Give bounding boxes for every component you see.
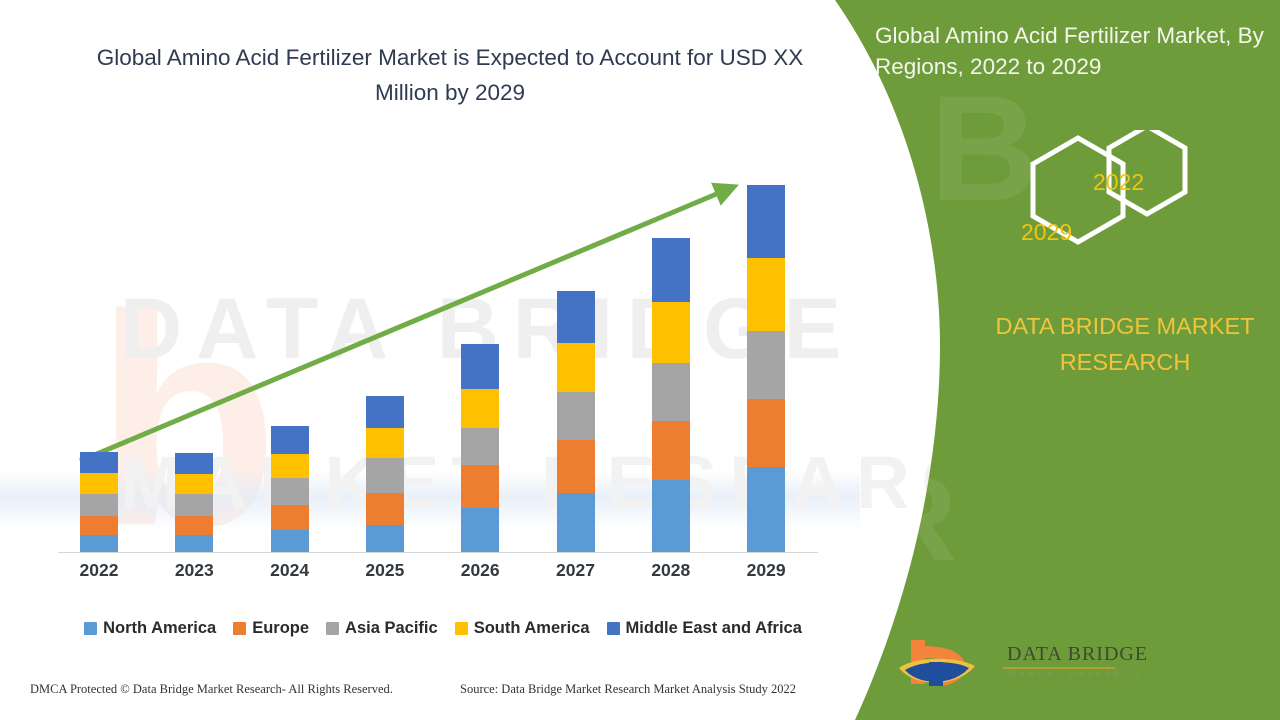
bar-segment-2023-middle-east-and-africa: [175, 453, 213, 474]
legend-item-europe[interactable]: Europe: [233, 619, 309, 638]
hexagon-group: [975, 130, 1205, 290]
bar-2025: [366, 396, 404, 552]
bar-segment-2022-middle-east-and-africa: [80, 452, 118, 473]
bar-segment-2026-south-america: [461, 389, 499, 428]
trend-arrow: [0, 0, 860, 600]
bar-segment-2023-asia-pacific: [175, 494, 213, 516]
panel-title: Global Amino Acid Fertilizer Market, By …: [875, 20, 1270, 82]
legend-swatch-icon: [607, 622, 620, 635]
bar-segment-2025-europe: [366, 493, 404, 525]
bar-2029: [747, 185, 785, 552]
x-axis-label-2024: 2024: [250, 560, 330, 581]
chart-legend: North AmericaEuropeAsia PacificSouth Ame…: [58, 616, 828, 640]
legend-item-north-america[interactable]: North America: [84, 619, 216, 638]
svg-text:R: R: [870, 452, 957, 586]
bar-segment-2024-asia-pacific: [271, 478, 309, 505]
hexagon-2022-label: 2022: [1093, 169, 1144, 196]
brand-line-1: DATA BRIDGE MARKET: [960, 308, 1280, 344]
x-axis-label-2026: 2026: [440, 560, 520, 581]
bar-segment-2024-north-america: [271, 530, 309, 552]
legend-item-middle-east-and-africa[interactable]: Middle East and Africa: [607, 619, 802, 638]
bar-segment-2022-europe: [80, 516, 118, 535]
bar-segment-2022-north-america: [80, 535, 118, 552]
legend-swatch-icon: [326, 622, 339, 635]
bar-segment-2024-europe: [271, 505, 309, 530]
x-axis-label-2028: 2028: [631, 560, 711, 581]
bar-segment-2028-middle-east-and-africa: [652, 238, 690, 302]
hexagon-2029-label: 2029: [1021, 219, 1072, 246]
bar-segment-2029-asia-pacific: [747, 331, 785, 399]
bar-segment-2022-asia-pacific: [80, 494, 118, 516]
bar-segment-2028-europe: [652, 421, 690, 480]
bar-segment-2027-europe: [557, 440, 595, 493]
legend-swatch-icon: [455, 622, 468, 635]
x-axis-label-2029: 2029: [726, 560, 806, 581]
bar-segment-2024-middle-east-and-africa: [271, 426, 309, 454]
bar-2026: [461, 344, 499, 552]
stacked-bar-chart: 20222023202420252026202720282029: [0, 0, 860, 600]
bar-segment-2025-north-america: [366, 525, 404, 552]
x-axis-label-2025: 2025: [345, 560, 425, 581]
x-axis-line: [58, 552, 818, 553]
bar-segment-2026-middle-east-and-africa: [461, 344, 499, 389]
bar-segment-2028-north-america: [652, 480, 690, 552]
bar-segment-2029-middle-east-and-africa: [747, 185, 785, 258]
bar-2028: [652, 238, 690, 552]
bar-2024: [271, 426, 309, 552]
legend-label: Middle East and Africa: [626, 619, 802, 638]
bar-segment-2025-south-america: [366, 428, 404, 458]
bar-segment-2023-north-america: [175, 535, 213, 552]
logo-wordmark: DATA BRIDGE: [1007, 643, 1148, 666]
legend-label: South America: [474, 619, 590, 638]
bar-segment-2029-europe: [747, 399, 785, 467]
legend-item-asia-pacific[interactable]: Asia Pacific: [326, 619, 438, 638]
x-axis-label-2023: 2023: [154, 560, 234, 581]
x-axis-label-2027: 2027: [536, 560, 616, 581]
bar-segment-2027-middle-east-and-africa: [557, 291, 595, 343]
bar-segment-2025-asia-pacific: [366, 458, 404, 493]
bar-segment-2026-europe: [461, 465, 499, 508]
bar-segment-2029-south-america: [747, 258, 785, 331]
bar-segment-2027-asia-pacific: [557, 392, 595, 440]
bar-segment-2022-south-america: [80, 473, 118, 494]
legend-swatch-icon: [84, 622, 97, 635]
brand-line-2: RESEARCH: [960, 344, 1280, 380]
legend-label: Europe: [252, 619, 309, 638]
footer-copyright: DMCA Protected © Data Bridge Market Rese…: [30, 682, 393, 697]
footer-source: Source: Data Bridge Market Research Mark…: [460, 682, 796, 697]
brand-block: DATA BRIDGE MARKET RESEARCH: [960, 308, 1280, 380]
legend-label: North America: [103, 619, 216, 638]
legend-swatch-icon: [233, 622, 246, 635]
bar-segment-2023-europe: [175, 516, 213, 535]
bar-segment-2027-north-america: [557, 493, 595, 552]
bar-segment-2025-middle-east-and-africa: [366, 396, 404, 428]
bar-2023: [175, 453, 213, 552]
logo-tagline: MARKET RESEARCH: [1007, 668, 1142, 678]
bar-segment-2029-north-america: [747, 467, 785, 552]
bar-segment-2023-south-america: [175, 474, 213, 494]
bar-segment-2024-south-america: [271, 454, 309, 478]
bar-segment-2027-south-america: [557, 343, 595, 392]
x-axis-label-2022: 2022: [59, 560, 139, 581]
infographic-canvas: b DATA BRIDGE MARKET RESEARCH B R Global…: [0, 0, 1280, 720]
bar-segment-2026-north-america: [461, 508, 499, 552]
bar-segment-2026-asia-pacific: [461, 428, 499, 465]
bar-2027: [557, 291, 595, 552]
legend-label: Asia Pacific: [345, 619, 438, 638]
bar-2022: [80, 452, 118, 552]
bar-segment-2028-asia-pacific: [652, 363, 690, 421]
bar-segment-2028-south-america: [652, 302, 690, 363]
legend-item-south-america[interactable]: South America: [455, 619, 590, 638]
